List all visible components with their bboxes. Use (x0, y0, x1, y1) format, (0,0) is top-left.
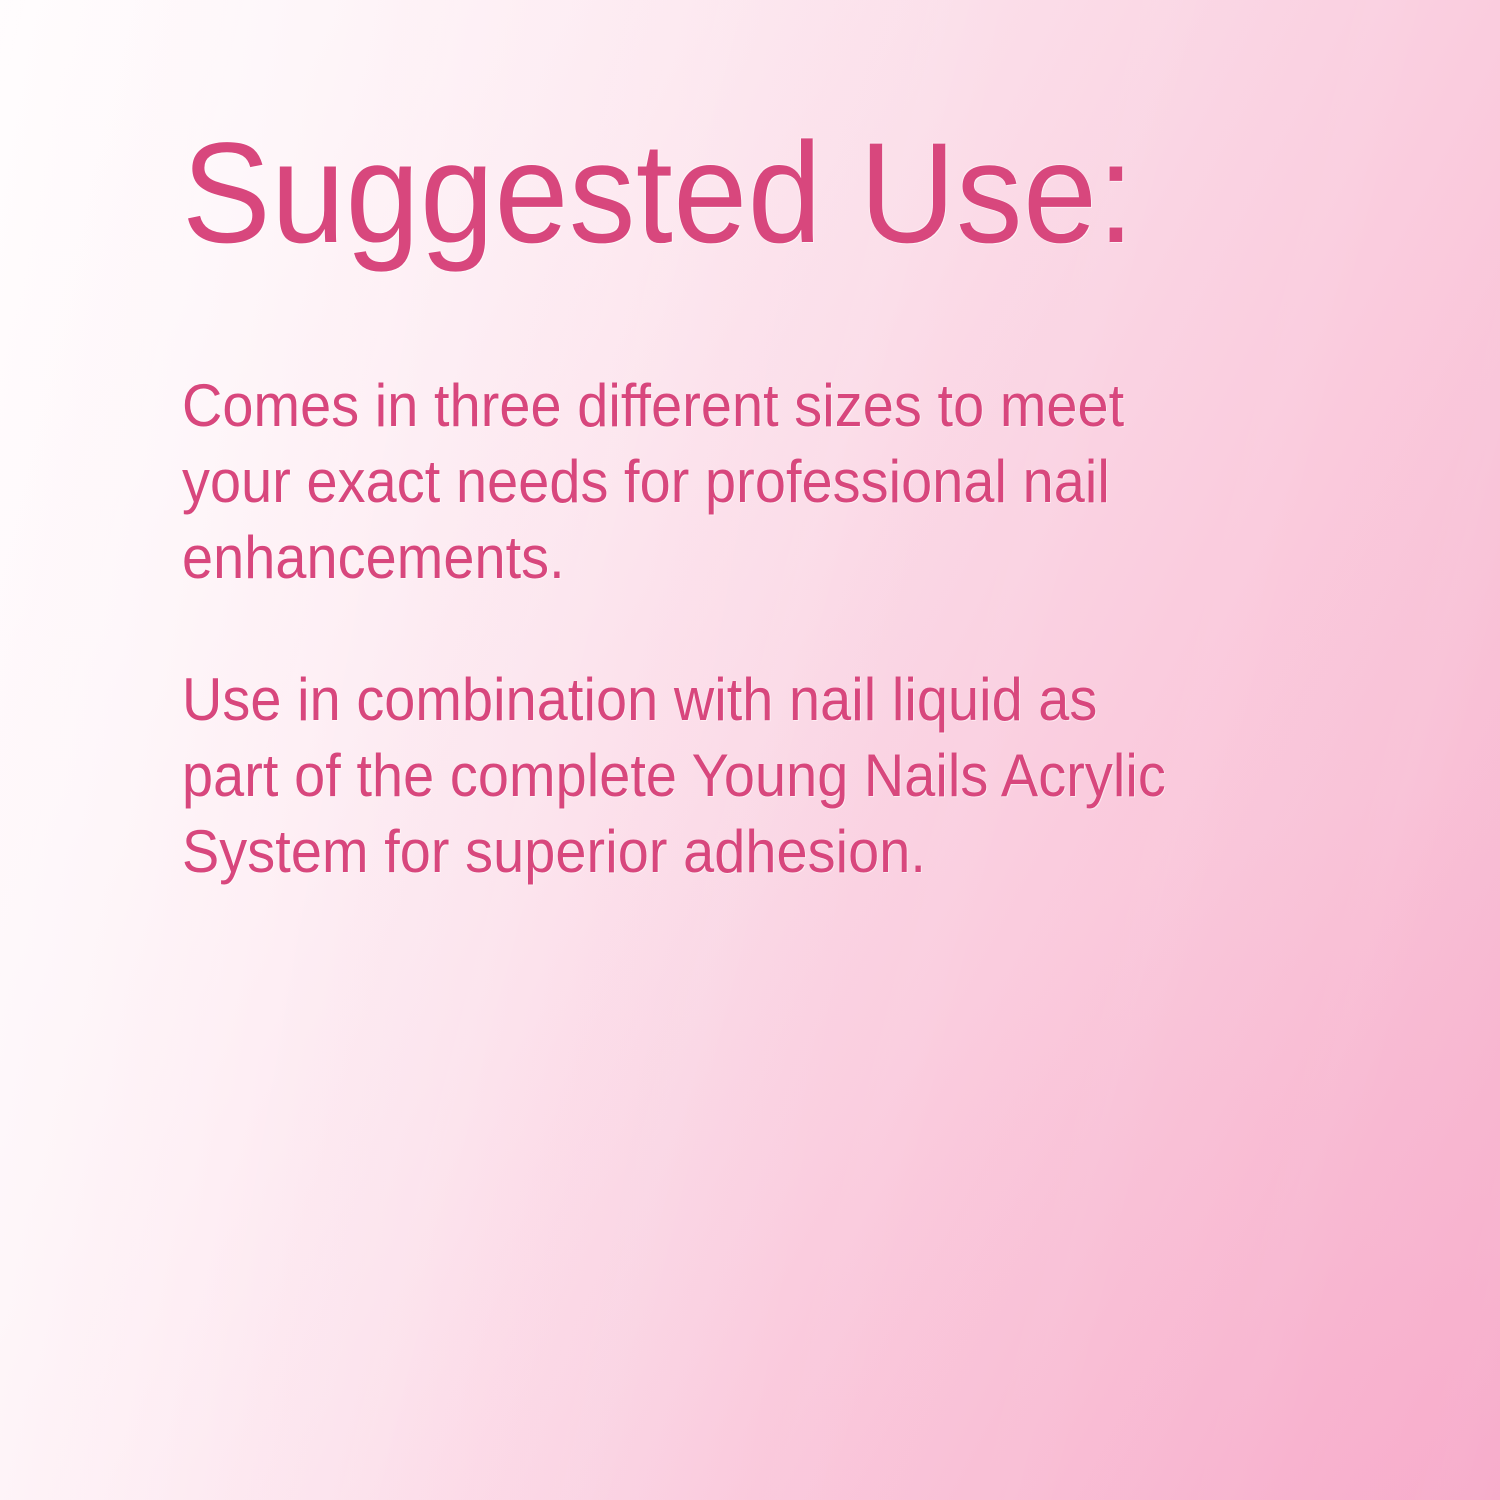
section-heading: Suggested Use: (182, 122, 1135, 265)
description-paragraph-usage: Use in combination with nail liquid as p… (182, 662, 1205, 890)
description-paragraph-sizes: Comes in three different sizes to meet y… (182, 368, 1205, 596)
product-info-card: Suggested Use: Comes in three different … (0, 0, 1500, 1500)
text-content-block: Suggested Use: Comes in three different … (182, 0, 1287, 1500)
